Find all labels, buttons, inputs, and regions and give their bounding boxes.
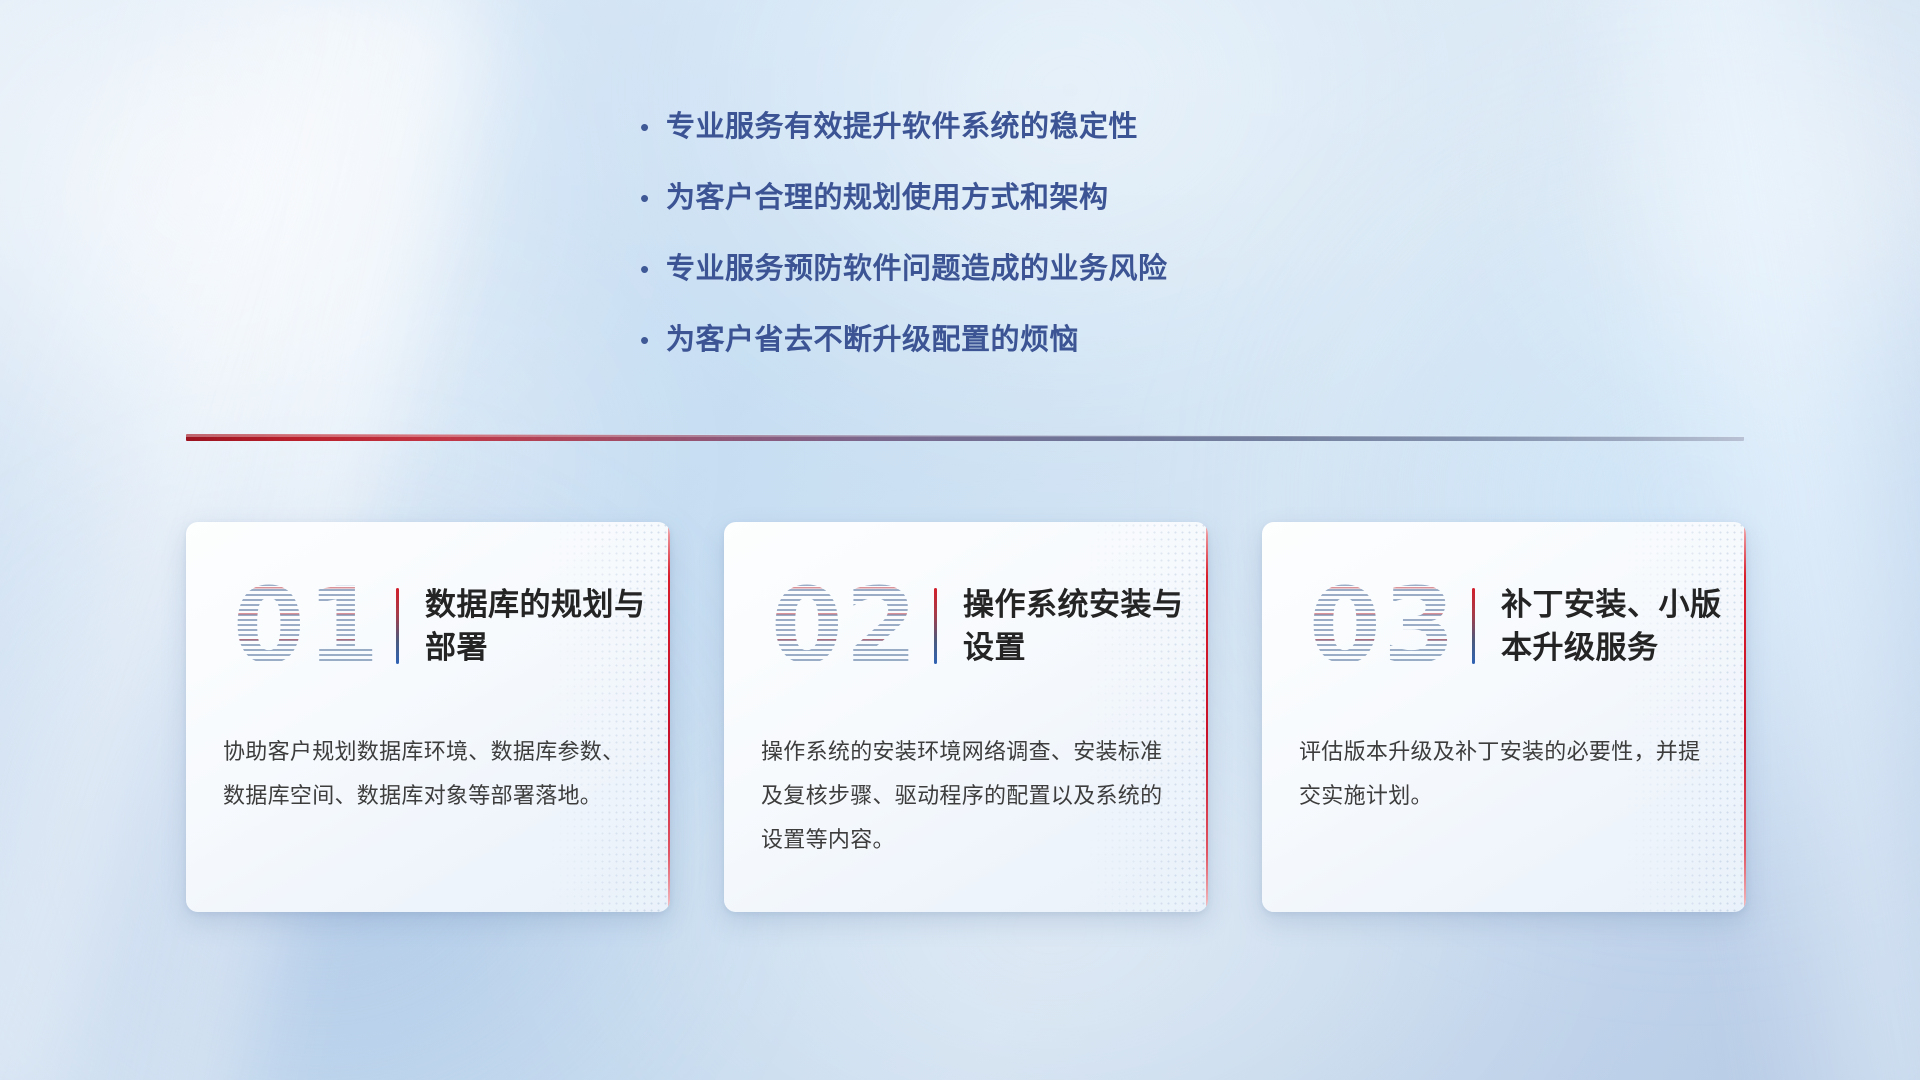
- card-separator-bar: [1472, 588, 1475, 664]
- card-body-text: 操作系统的安装环境网络调查、安装标准及复核步骤、驱动程序的配置以及系统的设置等内…: [761, 730, 1173, 862]
- bullet-text: 专业服务预防软件问题造成的业务风险: [666, 250, 1168, 288]
- service-card-group: 01 01 数据库的规划与部署 协助客户规划数据库环境、数据库参数、数据库空间、…: [186, 522, 1746, 912]
- bullet-dot-icon: •: [640, 250, 666, 288]
- bullet-text: 为客户合理的规划使用方式和架构: [666, 179, 1109, 217]
- service-card[interactable]: 03 03 补丁安装、小版本升级服务 评估版本升级及补丁安装的必要性，并提交实施…: [1262, 522, 1746, 912]
- benefits-bullet-list: • 专业服务有效提升软件系统的稳定性 • 为客户合理的规划使用方式和架构 • 专…: [640, 108, 1400, 392]
- card-separator-bar: [934, 588, 937, 664]
- bullet-dot-icon: •: [640, 321, 666, 359]
- card-header: 02 02 操作系统安装与设置: [724, 556, 1208, 696]
- card-header: 03 03 补丁安装、小版本升级服务: [1262, 556, 1746, 696]
- card-number-glyph: 02: [771, 574, 920, 678]
- list-item: • 为客户省去不断升级配置的烦恼: [640, 321, 1400, 359]
- bullet-dot-icon: •: [640, 108, 666, 146]
- card-number-glyph: 01: [233, 574, 382, 678]
- bullet-text: 专业服务有效提升软件系统的稳定性: [666, 108, 1138, 146]
- card-number-glyph: 03: [1309, 574, 1458, 678]
- slide-canvas: • 专业服务有效提升软件系统的稳定性 • 为客户合理的规划使用方式和架构 • 专…: [0, 0, 1920, 1080]
- list-item: • 为客户合理的规划使用方式和架构: [640, 179, 1400, 217]
- card-title: 操作系统安装与设置: [963, 583, 1198, 669]
- card-number: 01 01: [222, 561, 392, 691]
- card-body-text: 评估版本升级及补丁安装的必要性，并提交实施计划。: [1299, 730, 1711, 818]
- bullet-dot-icon: •: [640, 179, 666, 217]
- card-title: 补丁安装、小版本升级服务: [1501, 583, 1736, 669]
- section-divider: [186, 430, 1744, 446]
- bullet-text: 为客户省去不断升级配置的烦恼: [666, 321, 1079, 359]
- list-item: • 专业服务预防软件问题造成的业务风险: [640, 250, 1400, 288]
- card-header: 01 01 数据库的规划与部署: [186, 556, 670, 696]
- card-body-text: 协助客户规划数据库环境、数据库参数、数据库空间、数据库对象等部署落地。: [223, 730, 635, 818]
- card-title: 数据库的规划与部署: [425, 583, 660, 669]
- service-card[interactable]: 02 02 操作系统安装与设置 操作系统的安装环境网络调查、安装标准及复核步骤、…: [724, 522, 1208, 912]
- list-item: • 专业服务有效提升软件系统的稳定性: [640, 108, 1400, 146]
- service-card[interactable]: 01 01 数据库的规划与部署 协助客户规划数据库环境、数据库参数、数据库空间、…: [186, 522, 670, 912]
- card-separator-bar: [396, 588, 399, 664]
- card-number: 03 03: [1298, 561, 1468, 691]
- divider-gloss: [186, 434, 1744, 437]
- card-number: 02 02: [760, 561, 930, 691]
